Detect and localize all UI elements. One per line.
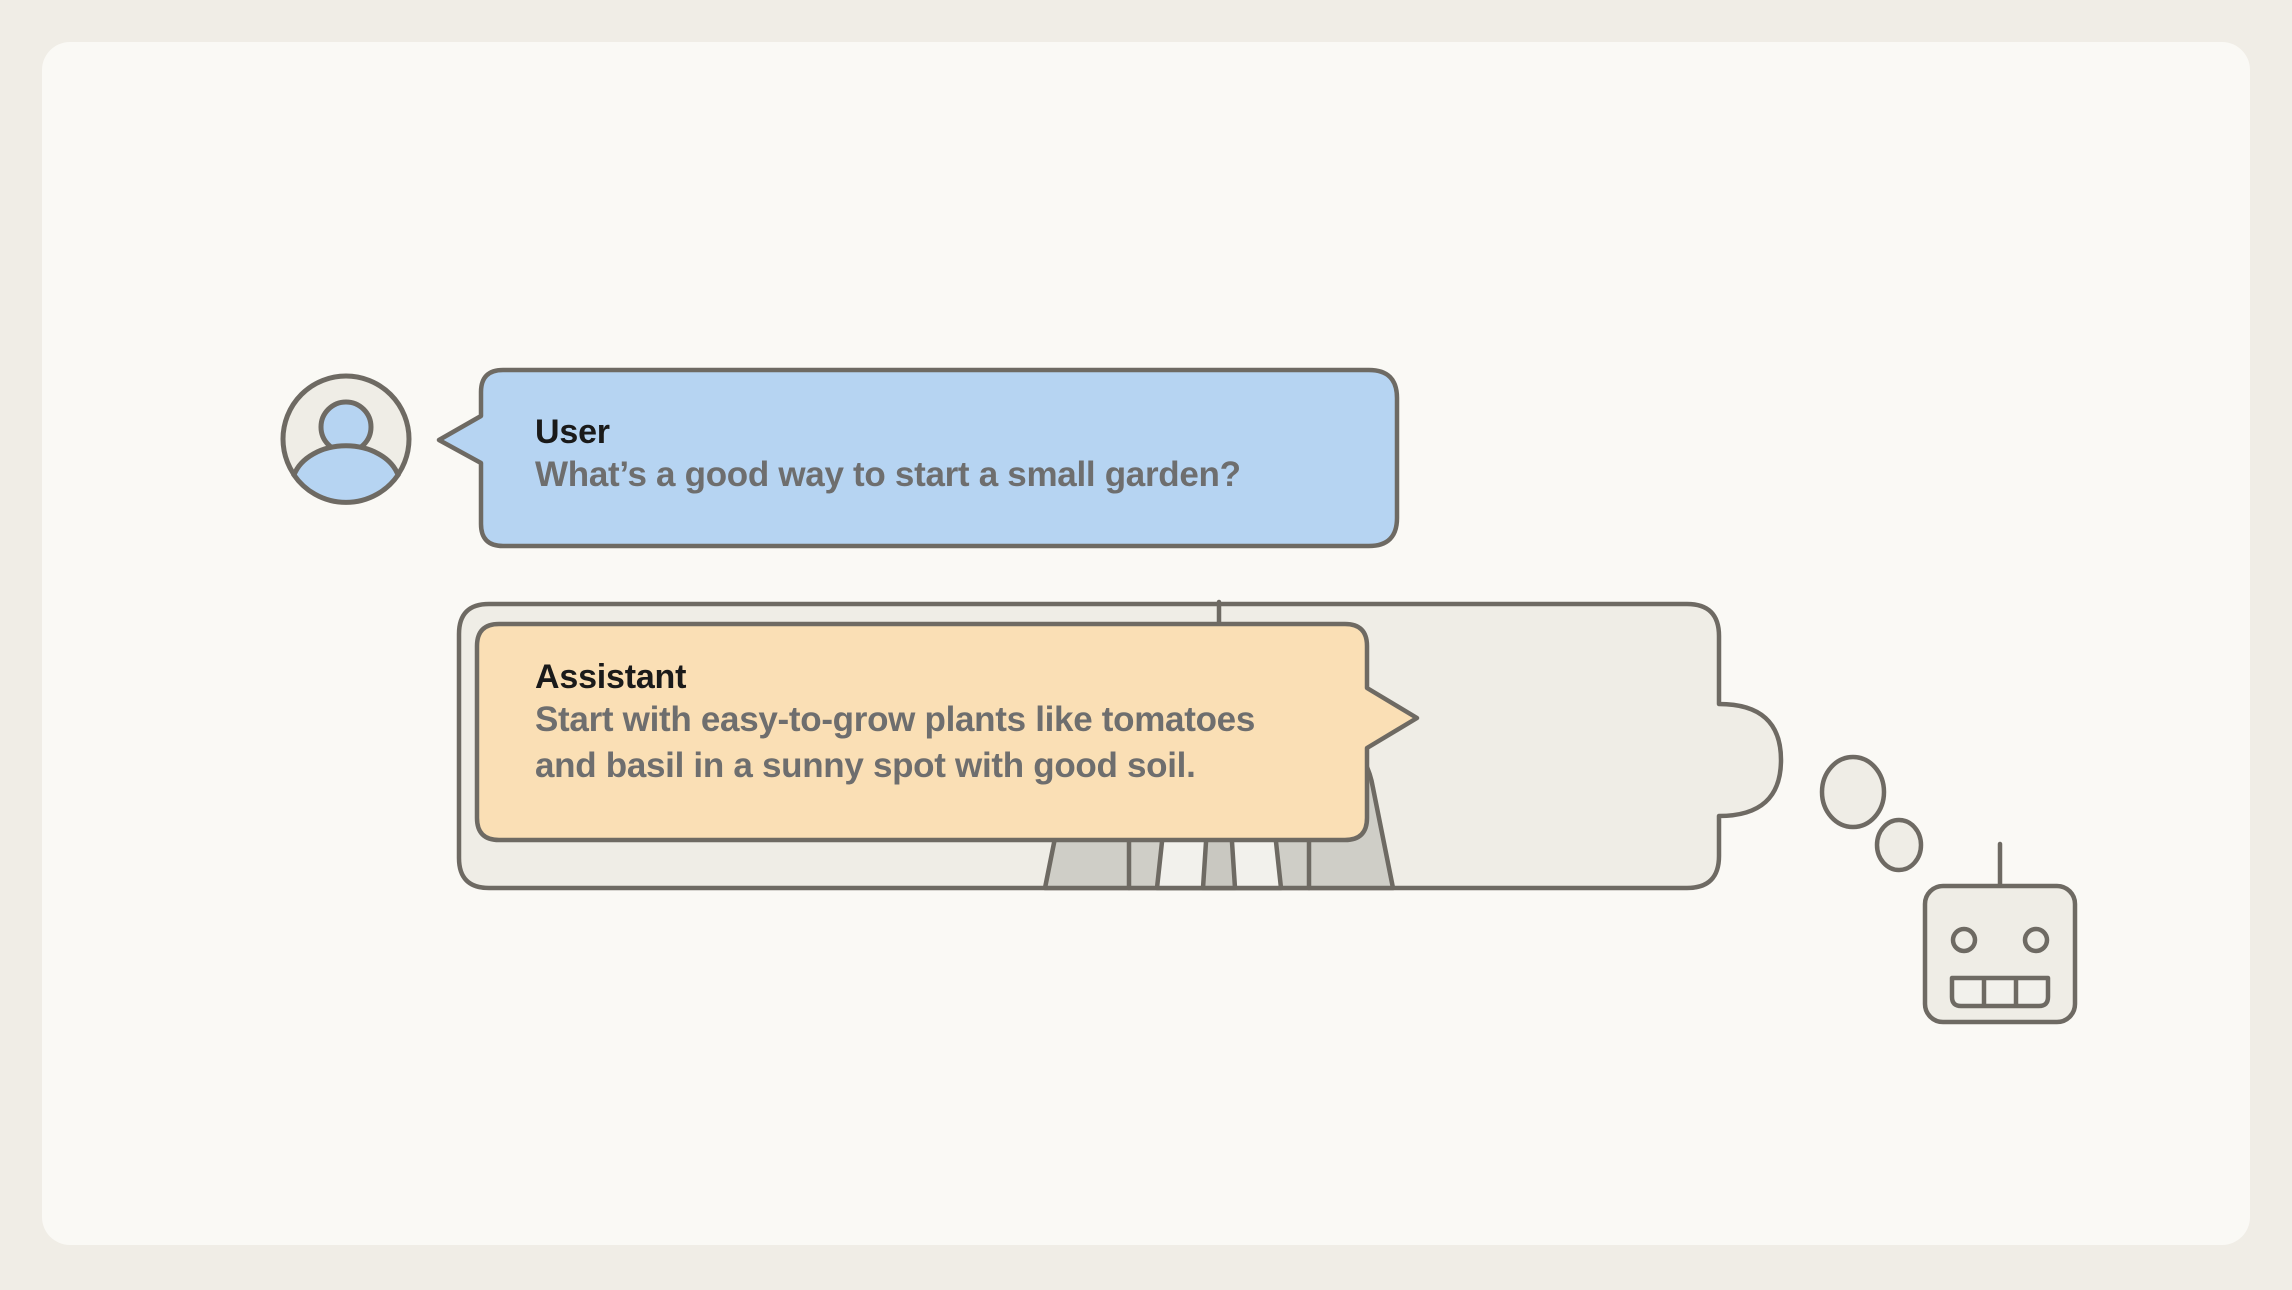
assistant-bubble-shape (477, 624, 1417, 840)
user-avatar (278, 371, 414, 507)
user-avatar-icon (283, 376, 409, 502)
thought-bubble-small (1877, 820, 1921, 870)
assistant-message-group[interactable]: Assistant Start with easy-to-grow plants… (455, 600, 2015, 1000)
screenshot-root: User What’s a good way to start a small … (0, 0, 2292, 1290)
thought-bubble-large (1822, 757, 1884, 827)
user-message[interactable]: User What’s a good way to start a small … (435, 368, 1400, 548)
user-bubble-shape (439, 370, 1397, 546)
